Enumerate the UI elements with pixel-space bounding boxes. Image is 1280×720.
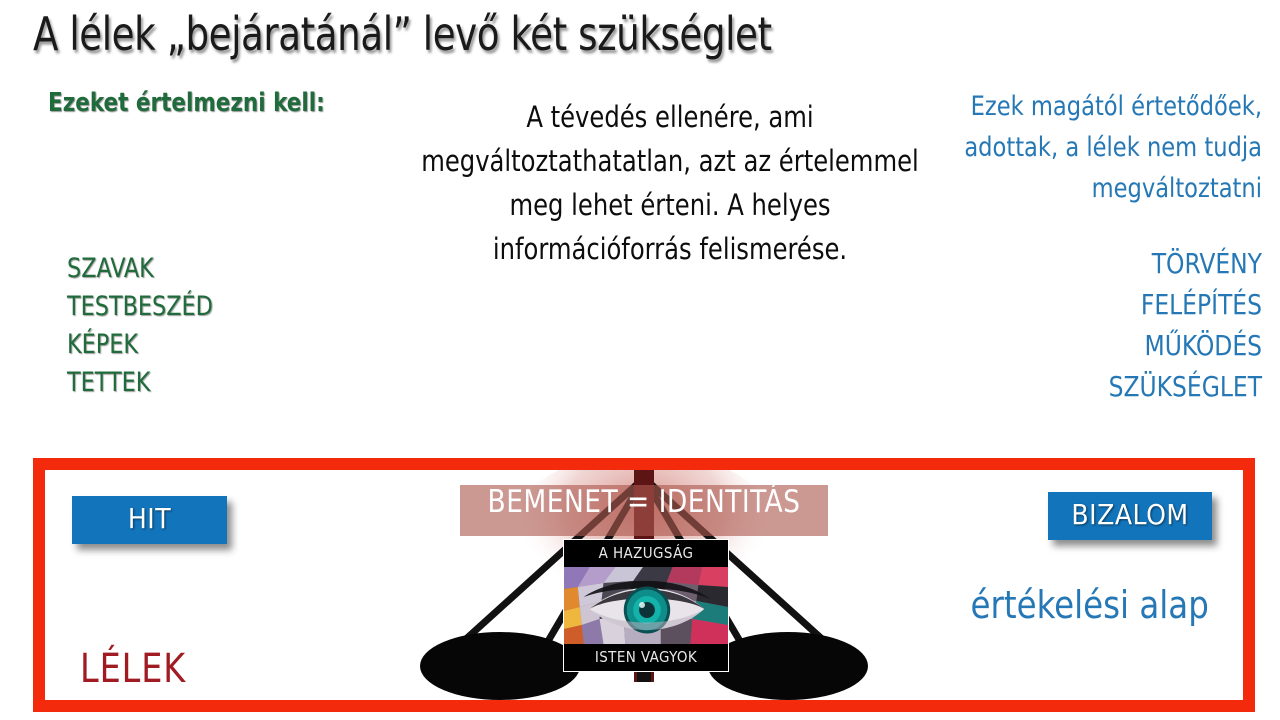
page-title: A lélek „bejáratánál” levő két szükségle… — [33, 6, 843, 62]
mosaic-eye-image — [564, 567, 728, 644]
card-top-caption: A HAZUGSÁG — [564, 540, 728, 567]
list-item: KÉPEK — [67, 326, 371, 364]
left-column-list: SZAVAK TESTBESZÉD KÉPEK TETTEK — [67, 250, 397, 402]
evaluation-basis-label: értékelési alap — [971, 583, 1209, 627]
highlight-panel: BEMENET = IDENTITÁS A HAZUGSÁG — [33, 458, 1255, 712]
right-column-list: TÖRVÉNY FELÉPÍTÉS MŰKÖDÉS SZÜKSÉGLET — [882, 243, 1262, 407]
left-column-heading: Ezeket értelmezni kell: — [48, 88, 325, 118]
slide-canvas: A lélek „bejáratánál” levő két szükségle… — [0, 0, 1280, 720]
faith-chip[interactable]: HIT — [72, 496, 227, 544]
list-item: FELÉPÍTÉS — [909, 284, 1262, 325]
list-item: TESTBESZÉD — [67, 288, 371, 326]
center-paragraph: A tévedés ellenére, ami megváltoztathata… — [419, 95, 921, 271]
list-item: SZAVAK — [67, 250, 371, 288]
list-item: TETTEK — [67, 364, 371, 402]
right-column-paragraph: Ezek magától értetődőek, adottak, a léle… — [909, 86, 1262, 209]
card-bottom-caption: ISTEN VAGYOK — [564, 644, 728, 671]
trust-chip[interactable]: BIZALOM — [1048, 492, 1212, 540]
identity-card: A HAZUGSÁG — [563, 539, 729, 672]
banner-label: BEMENET = IDENTITÁS — [445, 484, 844, 520]
soul-label: LÉLEK — [80, 646, 186, 692]
list-item: TÖRVÉNY — [909, 243, 1262, 284]
list-item: MŰKÖDÉS — [909, 325, 1262, 366]
list-item: SZÜKSÉGLET — [909, 366, 1262, 407]
